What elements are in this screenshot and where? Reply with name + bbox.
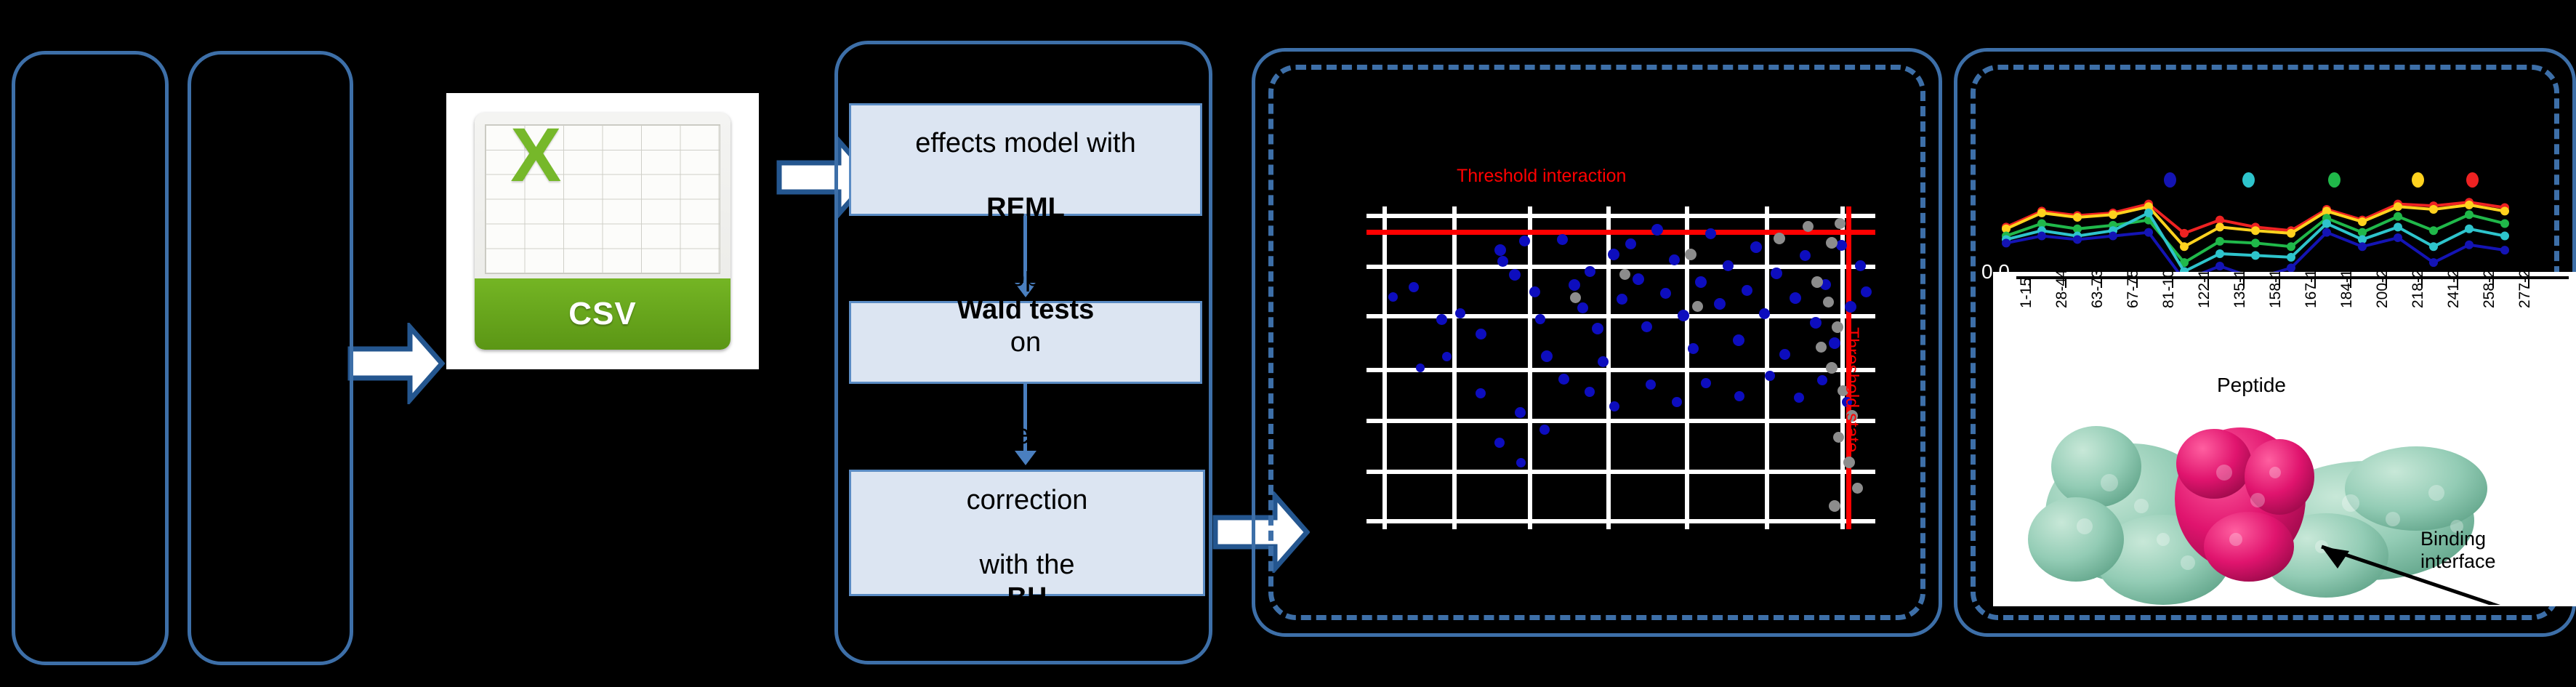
peptide-line-chart bbox=[1980, 189, 2576, 284]
x-axis-tick-label: 67-75 bbox=[2125, 272, 2142, 308]
binding-interface-line-1: Binding bbox=[2420, 528, 2496, 550]
scatter-point bbox=[1515, 407, 1526, 418]
scatter-point bbox=[1779, 349, 1790, 360]
chart-marker-series-cyan bbox=[2287, 253, 2295, 262]
scatter-point bbox=[1750, 241, 1762, 253]
scatter-point bbox=[1585, 266, 1595, 277]
binding-interface-annotation: Binding interface bbox=[2420, 528, 2496, 573]
scatter-point bbox=[1570, 292, 1581, 303]
scatter-point bbox=[1625, 238, 1636, 249]
chart-marker-series-green bbox=[2394, 212, 2402, 221]
chart-marker-series-cyan bbox=[2500, 232, 2509, 241]
chart-marker-series-yellow bbox=[2109, 210, 2117, 219]
scatter-point bbox=[1817, 375, 1827, 385]
chart-marker-series-yellow bbox=[2465, 201, 2474, 209]
wald-line-1-a: Apply bbox=[885, 261, 1166, 294]
scatter-point bbox=[1800, 250, 1811, 261]
binding-interface-line-2: interface bbox=[2420, 550, 2496, 573]
chart-marker-series-blue bbox=[2465, 241, 2474, 249]
scatter-point bbox=[1826, 362, 1838, 374]
bh-line-2: correction bbox=[929, 484, 1124, 517]
gridline-h bbox=[1367, 265, 1875, 269]
x-axis-tick-label: 167-180 bbox=[2303, 272, 2320, 308]
y-axis-tick-label: 0.0 bbox=[1981, 260, 2010, 284]
scatter-point bbox=[1759, 308, 1770, 319]
scatter-point bbox=[1695, 276, 1707, 288]
chart-marker-series-yellow bbox=[2251, 226, 2260, 235]
threshold-interaction-label: Threshold interaction bbox=[1457, 166, 1626, 187]
scatter-point bbox=[1816, 342, 1827, 353]
scatter-point bbox=[1678, 310, 1689, 321]
gridline-h bbox=[1367, 214, 1875, 218]
chart-marker-series-yellow bbox=[2429, 205, 2438, 214]
chart-marker-series-blue bbox=[2144, 228, 2153, 237]
scatter-point bbox=[1803, 221, 1814, 232]
gridline-h bbox=[1367, 519, 1875, 523]
chart-marker-series-blue bbox=[2215, 262, 2224, 270]
chart-marker-series-green bbox=[2429, 226, 2438, 235]
scatter-point bbox=[1598, 356, 1609, 367]
scatter-point bbox=[1843, 457, 1855, 468]
scatter-point bbox=[1765, 371, 1775, 381]
scatter-point bbox=[1660, 288, 1671, 299]
x-axis-tick-label: 63-73 bbox=[2089, 272, 2106, 308]
x-axis-tick-label: 277-284 bbox=[2516, 272, 2534, 308]
arrow-input-to-csv bbox=[347, 323, 445, 404]
scatter-point bbox=[1592, 323, 1603, 334]
chart-marker-series-blue bbox=[2500, 246, 2509, 254]
scatter-point bbox=[1692, 301, 1703, 312]
x-axis-tick-label: 258-266 bbox=[2481, 272, 2498, 308]
threshold-interaction-line bbox=[1367, 230, 1875, 235]
scatter-point bbox=[1442, 352, 1452, 361]
chart-marker-series-blue bbox=[2429, 258, 2438, 267]
gridline-h bbox=[1367, 470, 1875, 474]
bh-line-3-c: procedure bbox=[929, 614, 1124, 647]
scatter-point bbox=[1633, 273, 1644, 285]
scatter-point bbox=[1669, 254, 1680, 265]
scatter-point bbox=[1476, 388, 1486, 398]
scatter-plot-area bbox=[1367, 206, 1875, 529]
scatter-point bbox=[1705, 228, 1716, 239]
bh-correction-box[interactable]: Multiple testing correction with the BH … bbox=[849, 470, 1205, 596]
scatter-point bbox=[1455, 308, 1465, 318]
excel-x-glyph: X bbox=[485, 117, 587, 241]
legend-dot-series-green bbox=[2328, 172, 2340, 188]
scatter-point bbox=[1497, 256, 1508, 267]
scatter-point bbox=[1733, 334, 1744, 346]
scatter-point bbox=[1829, 337, 1840, 349]
scatter-point bbox=[1516, 458, 1526, 467]
scatter-point bbox=[1742, 285, 1752, 296]
bh-line-3-b: BH bbox=[1007, 582, 1047, 613]
chart-marker-series-blue bbox=[2073, 235, 2082, 244]
scatter-point bbox=[1529, 286, 1540, 297]
fit-model-line-1: Fit a linear mixed- bbox=[909, 62, 1141, 95]
chart-marker-series-cyan bbox=[2394, 222, 2402, 231]
bh-line-3-a: with the bbox=[929, 549, 1124, 582]
peptide-axis-structure-panel: 1-1528-4463-7367-7581-101122-129135-1441… bbox=[1993, 272, 2576, 606]
scatter-point bbox=[1577, 302, 1588, 313]
x-axis-tick-label: 81-101 bbox=[2160, 272, 2178, 308]
scatter-point bbox=[1861, 286, 1872, 297]
chart-marker-series-yellow bbox=[2500, 206, 2509, 215]
scatter-point bbox=[1774, 233, 1785, 244]
scatter-point bbox=[1771, 268, 1782, 279]
legend-dot-series-red bbox=[2466, 172, 2479, 188]
scatter-point bbox=[1519, 236, 1530, 246]
scatter-point bbox=[1714, 298, 1726, 310]
chart-marker-series-blue bbox=[2394, 233, 2402, 242]
legend-dot-series-blue bbox=[2164, 172, 2176, 188]
chart-marker-series-cyan bbox=[2144, 209, 2153, 217]
scatter-point bbox=[1811, 276, 1823, 288]
scatter-point bbox=[1476, 329, 1486, 340]
scatter-point bbox=[1836, 240, 1847, 251]
x-axis-tick-label: 241-257 bbox=[2445, 272, 2463, 308]
chart-marker-series-blue bbox=[2322, 228, 2331, 237]
chart-marker-series-green bbox=[2500, 219, 2509, 228]
threshold-state-label: Threshold state bbox=[1841, 327, 1862, 452]
scatter-point bbox=[1617, 294, 1627, 305]
x-axis-tick-label: 1-15 bbox=[2018, 278, 2035, 308]
scatter-point bbox=[1852, 483, 1863, 494]
bh-line-1: Multiple testing bbox=[929, 419, 1124, 451]
scatter-point bbox=[1823, 297, 1834, 308]
fit-model-line-2: effects model with bbox=[909, 127, 1141, 160]
chart-marker-series-green bbox=[2465, 210, 2474, 219]
scatter-point bbox=[1845, 301, 1856, 313]
chart-marker-series-yellow bbox=[2394, 202, 2402, 211]
scatter-point bbox=[1509, 269, 1521, 281]
scatter-point bbox=[1723, 260, 1734, 271]
x-axis-tick-label: 28-44 bbox=[2053, 272, 2071, 308]
scatter-point bbox=[1558, 374, 1569, 385]
scatter-point bbox=[1641, 321, 1652, 332]
chart-marker-series-blue bbox=[2037, 232, 2046, 241]
scatter-point bbox=[1688, 343, 1699, 354]
scatter-point bbox=[1557, 234, 1568, 245]
scatter-point bbox=[1541, 350, 1553, 362]
x-axis-tick-label: 200-214 bbox=[2374, 272, 2391, 308]
x-axis-tick-label: 158-166 bbox=[2267, 272, 2285, 308]
csv-label: CSV bbox=[475, 278, 731, 350]
chart-marker-series-yellow bbox=[2037, 209, 2046, 217]
chart-marker-series-yellow bbox=[2358, 217, 2367, 226]
chart-marker-series-cyan bbox=[2429, 242, 2438, 251]
scatter-point bbox=[1701, 378, 1711, 388]
gridline-h bbox=[1367, 419, 1875, 423]
input-data-panel bbox=[12, 51, 169, 665]
csv-file-icon: X CSV bbox=[446, 93, 759, 369]
chart-marker-series-red bbox=[2180, 229, 2189, 238]
scatter-point bbox=[1409, 282, 1419, 292]
wald-tests-box[interactable]: Apply Wald tests on the model parameters bbox=[849, 301, 1202, 384]
chart-marker-series-cyan bbox=[2322, 219, 2331, 228]
scatter-point bbox=[1810, 317, 1822, 329]
chart-marker-series-green bbox=[2251, 238, 2260, 247]
chart-marker-series-green bbox=[2287, 242, 2295, 251]
chart-marker-series-yellow bbox=[2180, 242, 2189, 251]
chart-marker-series-yellow bbox=[2287, 229, 2295, 238]
scatter-point bbox=[1535, 314, 1545, 324]
scatter-point bbox=[1608, 249, 1619, 260]
scatter-point bbox=[1388, 292, 1398, 302]
scatter-plot bbox=[1367, 206, 1875, 529]
chart-marker-series-yellow bbox=[2215, 222, 2224, 231]
fit-model-box[interactable]: Fit a linear mixed- effects model with R… bbox=[849, 103, 1202, 216]
scatter-point bbox=[1646, 379, 1656, 390]
chart-marker-series-cyan bbox=[2465, 225, 2474, 233]
x-axis-tick-label: 122-129 bbox=[2196, 272, 2213, 308]
gridline-h bbox=[1367, 368, 1875, 372]
scatter-point bbox=[1855, 260, 1866, 271]
chart-marker-series-yellow bbox=[2073, 213, 2082, 222]
scatter-point bbox=[1539, 425, 1550, 435]
scatter-point bbox=[1585, 387, 1595, 397]
chart-marker-series-blue bbox=[2358, 242, 2367, 251]
scatter-point bbox=[1569, 279, 1580, 291]
wald-line-1-b: Wald tests bbox=[957, 294, 1095, 325]
scatter-point bbox=[1790, 292, 1801, 304]
x-axis-tick-label: 135-144 bbox=[2231, 272, 2249, 308]
csv-file-panel bbox=[188, 51, 353, 665]
scatter-point bbox=[1685, 249, 1696, 260]
scatter-point bbox=[1494, 244, 1506, 256]
scatter-point bbox=[1734, 391, 1744, 401]
x-axis-tick-label: 184-199 bbox=[2338, 272, 2356, 308]
chart-marker-series-blue bbox=[2109, 232, 2117, 241]
scatter-point bbox=[1416, 363, 1425, 372]
protein-structure-image bbox=[2009, 397, 2518, 605]
legend-dot-series-yellow bbox=[2412, 172, 2424, 188]
legend-dot-series-cyan bbox=[2242, 172, 2255, 188]
chart-marker-series-cyan bbox=[2251, 251, 2260, 260]
scatter-point bbox=[1651, 224, 1663, 236]
scatter-point bbox=[1436, 314, 1447, 325]
x-axis-tick-label: 218-237 bbox=[2410, 272, 2427, 308]
csv-badge: X CSV bbox=[475, 113, 731, 350]
scatter-point bbox=[1672, 397, 1682, 407]
scatter-point bbox=[1609, 401, 1619, 411]
chart-marker-series-blue bbox=[2287, 263, 2295, 272]
x-axis-title: Peptide bbox=[2217, 374, 2286, 397]
chart-marker-series-cyan bbox=[2215, 249, 2224, 258]
scatter-point bbox=[1835, 218, 1846, 229]
chart-marker-series-blue bbox=[2002, 238, 2011, 247]
scatter-point bbox=[1619, 269, 1630, 280]
scatter-point bbox=[1829, 500, 1840, 512]
figure-canvas: X CSV Fit a linear mixed- effects model … bbox=[0, 0, 2576, 687]
scatter-point bbox=[1794, 393, 1804, 403]
wald-line-1-c: on bbox=[885, 326, 1166, 359]
chart-marker-series-green bbox=[2215, 237, 2224, 246]
scatter-point bbox=[1826, 237, 1838, 249]
scatter-point bbox=[1494, 438, 1505, 448]
